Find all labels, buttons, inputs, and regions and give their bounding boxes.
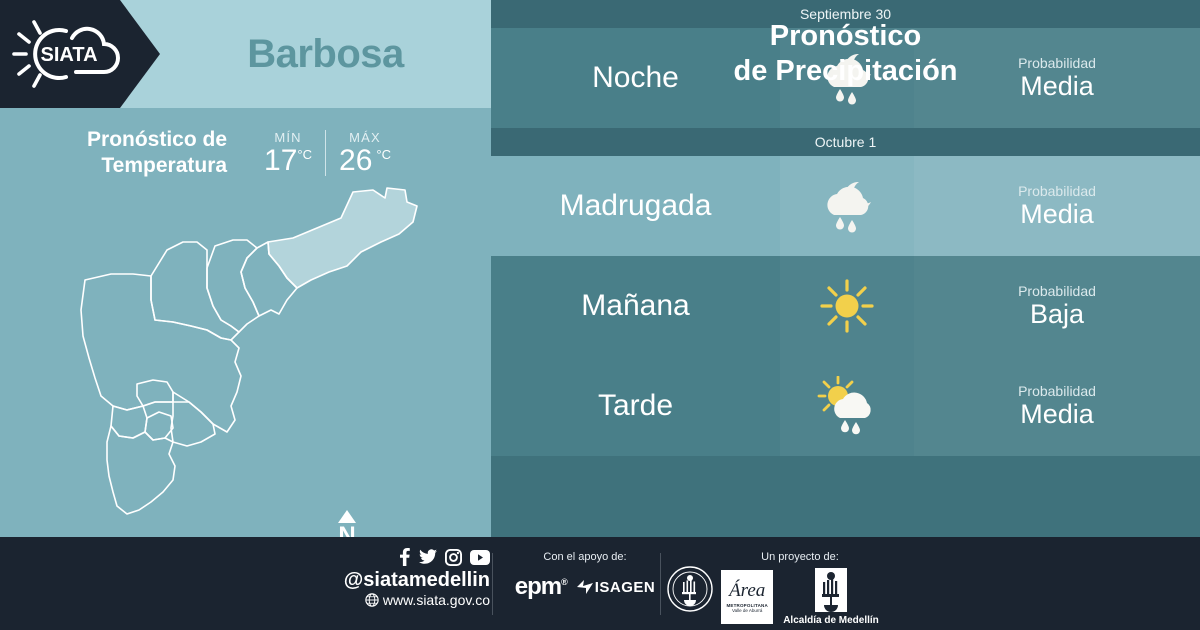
forecast-row-tarde: Tarde Pro [491, 356, 1200, 456]
left-header: SIATA Barbosa [0, 0, 491, 108]
prob-value-tarde: Media [1020, 400, 1094, 430]
footer-social-icons [300, 547, 490, 567]
map-region-medellin [81, 274, 241, 432]
map-region-bello [151, 242, 239, 340]
map-region-la-estrella [107, 426, 175, 514]
siata-logo-banner: SIATA [0, 0, 160, 108]
date-band-october: Octubre 1 [491, 128, 1200, 156]
footer-handle[interactable]: @siatamedellin [300, 569, 490, 591]
forecast-row-madrugada: Madrugada Probabilidad Media [491, 156, 1200, 256]
forecast-row-manana: Mañana Probabili [491, 256, 1200, 356]
city-name: Barbosa [160, 0, 491, 108]
footer-website-row[interactable]: www.siata.gov.co [300, 591, 490, 609]
sun-cloud-rain-icon [814, 376, 880, 436]
alcaldia-label: Alcaldía de Medellín [783, 615, 879, 626]
temperature-min-unit: °C [297, 147, 312, 162]
map-region-barbosa [268, 188, 417, 288]
forecast-header: Pronóstico de Precipitación [491, 0, 1200, 108]
prob-label-tarde: Probabilidad [1018, 383, 1096, 399]
weather-forecast-infographic: SIATA Barbosa Pronóstico de Temperatura … [0, 0, 1200, 630]
globe-icon [365, 593, 379, 607]
prob-label-madrugada: Probabilidad [1018, 183, 1096, 199]
forecast-period-tarde: Tarde [491, 356, 780, 456]
temperature-min-value-group: 17°C [264, 145, 312, 177]
forecast-icon-cell-tarde [780, 356, 914, 456]
isagen-logo-text: ISAGEN [595, 579, 656, 596]
forecast-period-manana: Mañana [491, 256, 780, 356]
forecast-prob-cell-tarde: Probabilidad Media [914, 356, 1200, 456]
forecast-title-line1: Pronóstico [770, 19, 921, 54]
temperature-title: Pronóstico de Temperatura [87, 127, 227, 178]
epm-logo-text: epm [515, 573, 561, 600]
moon-cloud-rain-icon [816, 177, 878, 235]
forecast-icon-cell-manana [780, 256, 914, 356]
forecast-icon-cell-madrugada [780, 156, 914, 256]
footer-project-logos: Área METROPOLITANA Valle de Aburrá [700, 567, 900, 626]
youtube-icon[interactable] [470, 550, 490, 565]
valle-de-aburra-map: N [55, 180, 455, 530]
siata-logo-text: SIATA [40, 44, 97, 66]
prob-value-manana: Baja [1030, 300, 1084, 330]
footer-social-block: @siatamedellin www.siata.gov.co [300, 547, 490, 610]
footer-project-block: Un proyecto de: Área METROPOLITANA Valle… [700, 551, 900, 626]
map-region-copacabana [207, 240, 259, 332]
left-panel: SIATA Barbosa Pronóstico de Temperatura … [0, 0, 491, 537]
temperature-max-label: MÁX [339, 130, 391, 145]
area-signature: Área [729, 581, 765, 600]
temperature-min-value: 17 [264, 144, 297, 177]
temperature-max-value: 26 [339, 144, 372, 177]
alcaldia-seal [666, 565, 714, 618]
temperature-max-value-group: 26°C [339, 145, 391, 177]
isagen-logo: ISAGEN [577, 579, 656, 596]
footer-divider-2 [660, 553, 661, 615]
map-region-envigado [171, 392, 215, 446]
forecast-prob-cell-manana: Probabilidad Baja [914, 256, 1200, 356]
facebook-icon[interactable] [398, 548, 411, 566]
temperature-max: MÁX 26°C [326, 130, 404, 177]
forecast-title-line2: de Precipitación [733, 54, 957, 89]
temperature-title-line2: Temperatura [87, 153, 227, 179]
map-region-copacabana-south [137, 380, 173, 406]
temperature-min: MÍN 17°C [251, 130, 326, 177]
twitter-icon[interactable] [419, 548, 437, 566]
medellin-seal-icon [666, 565, 714, 613]
forecast-period-madrugada: Madrugada [491, 156, 780, 256]
area-metropolitana-logo: Área METROPOLITANA Valle de Aburrá [721, 570, 773, 624]
temperature-max-unit: °C [376, 147, 391, 162]
epm-logo: epm® [515, 573, 567, 601]
footer-support-logos: epm® ISAGEN [505, 573, 665, 601]
footer-support-block: Con el apoyo de: epm® ISAGEN [505, 551, 665, 601]
temperature-values: MÍN 17°C MÁX 26°C [251, 130, 404, 177]
isagen-mark-icon [577, 580, 593, 594]
footer-divider-1 [492, 553, 493, 615]
map-region-caldas [127, 330, 241, 514]
footer-project-caption: Un proyecto de: [700, 551, 900, 563]
siata-logo: SIATA [12, 18, 128, 90]
sun-icon [817, 277, 877, 335]
alcaldia-medellin-logo: Alcaldía de Medellín [783, 567, 879, 626]
precipitation-forecast-panel: Pronóstico de Precipitación Septiembre 3… [491, 0, 1200, 537]
footer-website: www.siata.gov.co [383, 591, 490, 609]
area-line2: Valle de Aburrá [732, 608, 762, 613]
forecast-prob-cell-madrugada: Probabilidad Media [914, 156, 1200, 256]
prob-value-madrugada: Media [1020, 200, 1094, 230]
map-svg [55, 180, 455, 530]
alcaldia-shield-icon [814, 567, 848, 613]
temperature-title-line1: Pronóstico de [87, 127, 227, 153]
prob-label-manana: Probabilidad [1018, 283, 1096, 299]
footer-support-caption: Con el apoyo de: [505, 551, 665, 563]
instagram-icon[interactable] [445, 549, 462, 566]
temperature-min-label: MÍN [264, 130, 312, 145]
temperature-block: Pronóstico de Temperatura MÍN 17°C MÁX 2… [0, 118, 491, 188]
footer: @siatamedellin www.siata.gov.co Con el a… [0, 537, 1200, 630]
